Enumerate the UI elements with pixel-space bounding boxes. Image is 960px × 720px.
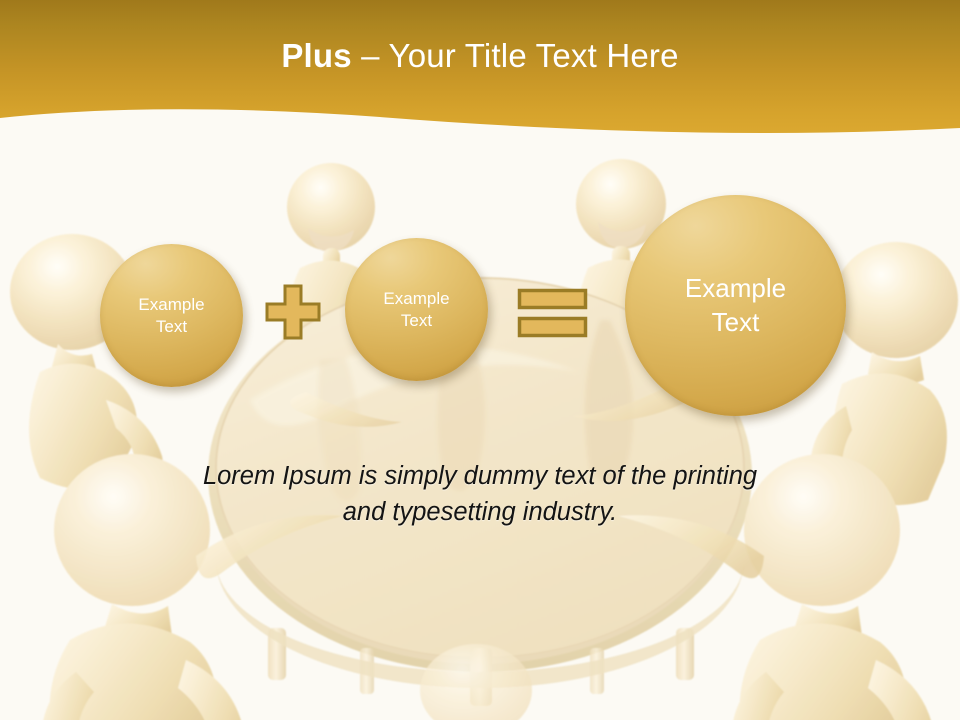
example-circle-3[interactable]: Example Text: [625, 195, 846, 416]
example-circle-3-line2: Text: [712, 306, 760, 339]
page-title-rest: – Your Title Text Here: [352, 37, 679, 75]
equals-icon: [517, 288, 588, 338]
example-circle-1[interactable]: Example Text: [100, 244, 243, 387]
slide-canvas: Plus – Your Title Text Here Example Text…: [0, 0, 960, 720]
body-text-line-1: Lorem Ipsum is simply dummy text of the …: [110, 458, 850, 494]
example-circle-2[interactable]: Example Text: [345, 238, 488, 381]
page-title-bold: Plus: [281, 37, 352, 75]
body-text: Lorem Ipsum is simply dummy text of the …: [110, 458, 850, 530]
example-circle-1-line1: Example: [138, 294, 204, 316]
page-title: Plus – Your Title Text Here: [0, 0, 960, 112]
example-circle-2-line2: Text: [401, 310, 432, 332]
example-circle-3-line1: Example: [685, 272, 786, 305]
plus-icon: [264, 283, 322, 341]
example-circle-2-line1: Example: [383, 288, 449, 310]
example-circle-1-line2: Text: [156, 316, 187, 338]
body-text-line-2: and typesetting industry.: [110, 494, 850, 530]
